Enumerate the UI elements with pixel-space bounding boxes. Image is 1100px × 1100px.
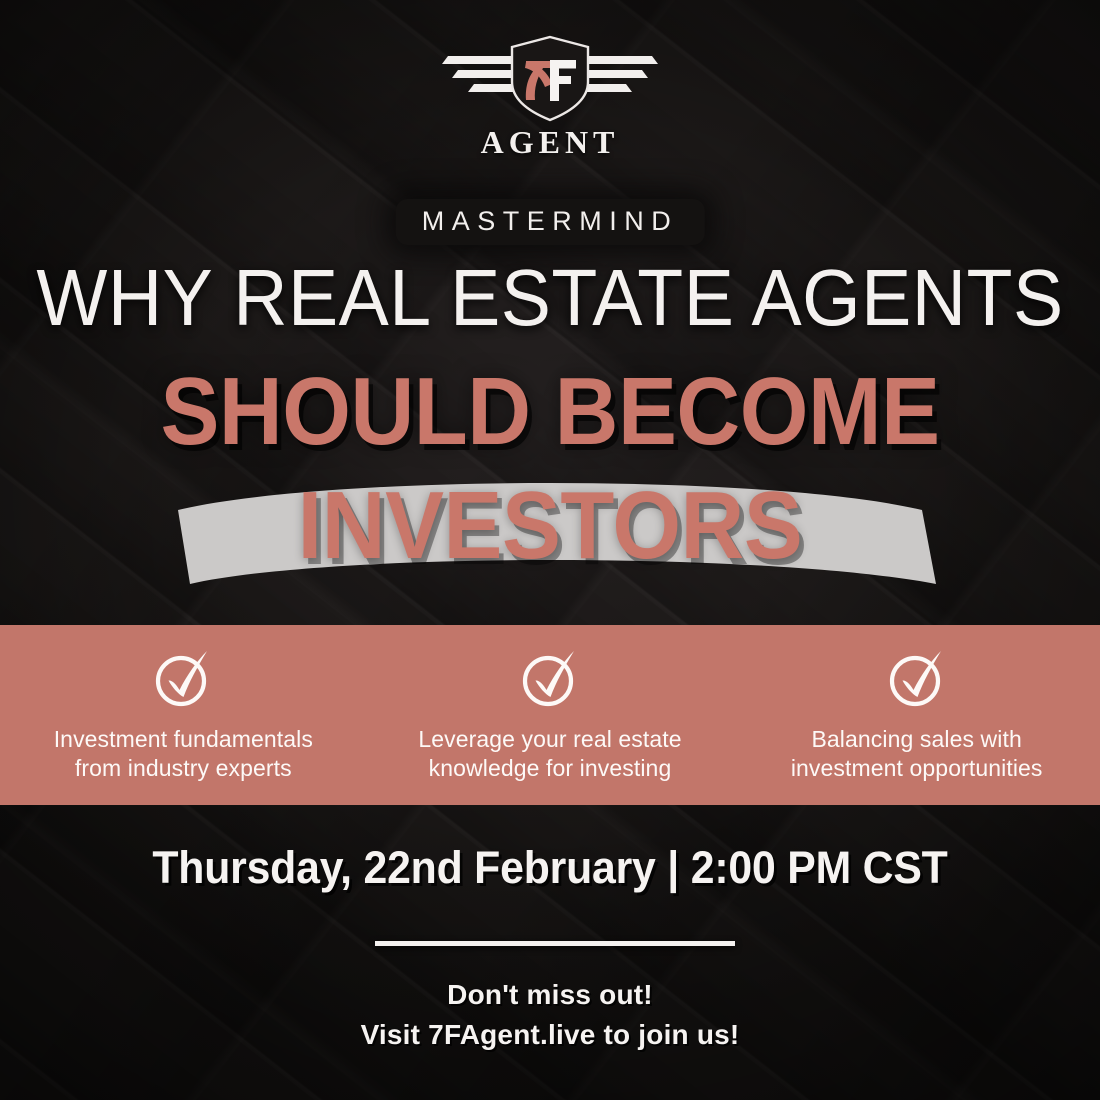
horizontal-divider: [375, 941, 735, 946]
benefit-text-line-2: from industry experts: [54, 754, 313, 783]
benefit-item: Leverage your real estate knowledge for …: [367, 647, 734, 784]
check-circle-icon: [885, 647, 949, 711]
promo-poster: AGENT MASTERMIND WHY REAL ESTATE AGENTS …: [0, 0, 1100, 1100]
headline-line-2: SHOULD BECOME: [44, 364, 1056, 460]
footer-line-1: Don't miss out!: [0, 975, 1100, 1015]
logo-wordmark: AGENT: [481, 126, 620, 158]
headline-line-3: INVESTORS: [44, 478, 1056, 574]
benefits-band: Investment fundamentals from industry ex…: [0, 625, 1100, 805]
benefit-text: Leverage your real estate knowledge for …: [418, 725, 681, 784]
benefit-item: Balancing sales with investment opportun…: [733, 647, 1100, 784]
investors-banner-group: INVESTORS: [0, 466, 1100, 606]
benefit-text: Balancing sales with investment opportun…: [791, 725, 1043, 784]
benefit-text-line-1: Leverage your real estate: [418, 725, 681, 754]
benefit-text-line-1: Investment fundamentals: [54, 725, 313, 754]
benefit-text-line-2: investment opportunities: [791, 754, 1043, 783]
benefit-text-line-1: Balancing sales with: [791, 725, 1043, 754]
check-circle-icon: [151, 647, 215, 711]
benefit-item: Investment fundamentals from industry ex…: [0, 647, 367, 784]
footer-cta: Don't miss out! Visit 7FAgent.live to jo…: [0, 975, 1100, 1055]
headline-line-1: WHY REAL ESTATE AGENTS: [33, 258, 1067, 338]
footer-line-2: Visit 7FAgent.live to join us!: [0, 1015, 1100, 1055]
event-datetime: Thursday, 22nd February | 2:00 PM CST: [28, 845, 1073, 890]
benefit-text: Investment fundamentals from industry ex…: [54, 725, 313, 784]
check-circle-icon: [518, 647, 582, 711]
benefit-text-line-2: knowledge for investing: [418, 754, 681, 783]
mastermind-badge: MASTERMIND: [396, 199, 705, 245]
mastermind-label: MASTERMIND: [422, 208, 679, 235]
winged-shield-7f-logo-icon: [440, 34, 660, 124]
brand-logo: AGENT: [0, 34, 1100, 158]
